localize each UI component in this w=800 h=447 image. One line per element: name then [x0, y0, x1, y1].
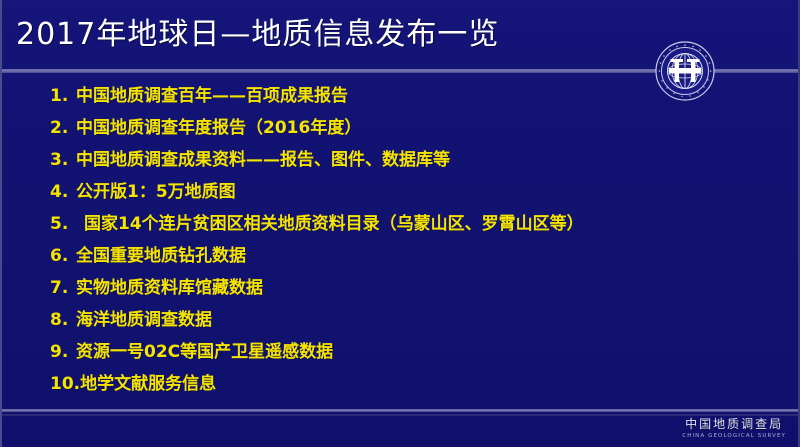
list-item: 7.实物地质资料库馆藏数据 [0, 272, 800, 304]
list-item-label: 地学文献服务信息 [80, 374, 216, 394]
list-item-label: 资源一号02C等国产卫星遥感数据 [76, 342, 333, 362]
list-item: 4.公开版1：5万地质图 [0, 176, 800, 208]
list-item: 6.全国重要地质钻孔数据 [0, 240, 800, 272]
list-item-number: 10. [50, 368, 80, 400]
list-item-label: 全国重要地质钻孔数据 [76, 246, 246, 266]
slide-title: 2017年地球日—地质信息发布一览 [16, 16, 499, 54]
list-item-label: 公开版1：5万地质图 [76, 182, 236, 202]
list-item-label: 实物地质资料库馆藏数据 [76, 278, 263, 298]
footer-divider-line [2, 409, 798, 412]
publication-list: 1.中国地质调查百年——百项成果报告2.中国地质调查年度报告（2016年度）3.… [0, 80, 800, 400]
list-item-label: 中国地质调查百年——百项成果报告 [76, 86, 348, 106]
list-item-number: 9. [50, 336, 76, 368]
presentation-slide: 2017年地球日—地质信息发布一览 [0, 0, 800, 447]
list-item-label: 中国地质调查年度报告（2016年度） [76, 118, 361, 138]
footer-org-name-cn: 中国地质调查局 [682, 417, 786, 432]
footer-divider-line-shadow [2, 414, 798, 416]
list-item-number: 3. [50, 144, 76, 176]
china-geological-survey-logo-icon [655, 41, 715, 101]
list-item-label: 中国地质调查成果资料——报告、图件、数据库等 [76, 150, 450, 170]
list-item-number: 4. [50, 176, 76, 208]
list-item: 9.资源一号02C等国产卫星遥感数据 [0, 336, 800, 368]
list-item: 10.地学文献服务信息 [0, 368, 800, 400]
list-item: 3.中国地质调查成果资料——报告、图件、数据库等 [0, 144, 800, 176]
list-item-number: 6. [50, 240, 76, 272]
footer-branding: 中国地质调查局 CHINA GEOLOGICAL SURVEY [682, 417, 786, 441]
list-item-number: 2. [50, 112, 76, 144]
list-item-number: 7. [50, 272, 76, 304]
footer-org-name-en: CHINA GEOLOGICAL SURVEY [682, 432, 786, 441]
list-item: 5.国家14个连片贫困区相关地质资料目录（乌蒙山区、罗霄山区等） [0, 208, 800, 240]
list-item: 2.中国地质调查年度报告（2016年度） [0, 112, 800, 144]
list-item-number: 5. [50, 208, 84, 240]
list-item-number: 1. [50, 80, 76, 112]
list-item-number: 8. [50, 304, 76, 336]
list-item-label: 海洋地质调查数据 [76, 310, 212, 330]
list-item-label: 国家14个连片贫困区相关地质资料目录（乌蒙山区、罗霄山区等） [84, 214, 584, 234]
list-item: 8.海洋地质调查数据 [0, 304, 800, 336]
slide-content: 1.中国地质调查百年——百项成果报告2.中国地质调查年度报告（2016年度）3.… [0, 80, 800, 400]
